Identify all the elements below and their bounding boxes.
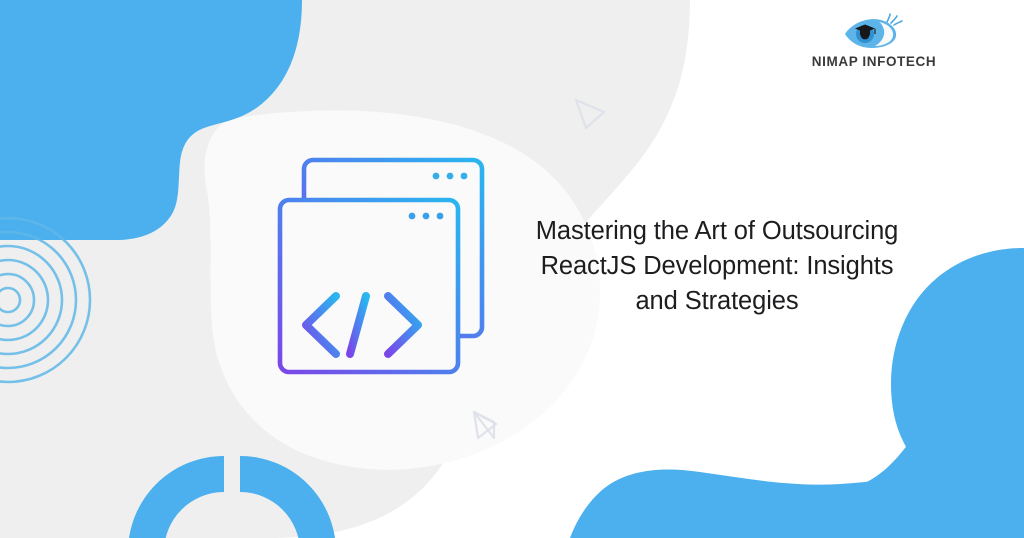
- page-title: Mastering the Art of Outsourcing ReactJS…: [487, 214, 947, 319]
- blog-banner: NIMAP INFOTECH: [0, 0, 1024, 538]
- page-title-line-1: Mastering the Art of Outsourcing: [487, 214, 947, 249]
- page-title-line-3: and Strategies: [487, 284, 947, 319]
- code-windows-illustration: [270, 148, 498, 384]
- front-window-frame: [280, 200, 458, 372]
- brand-wordmark: NIMAP INFOTECH: [796, 54, 952, 69]
- brand-logo[interactable]: NIMAP INFOTECH: [796, 12, 952, 78]
- code-windows-icon: [270, 148, 498, 384]
- page-title-line-2: ReactJS Development: Insights: [487, 249, 947, 284]
- front-window-dots: [409, 213, 444, 220]
- back-window-dots: [433, 173, 468, 180]
- nimap-eye-logo-icon: [839, 12, 909, 52]
- dot-top-left: [223, 80, 247, 104]
